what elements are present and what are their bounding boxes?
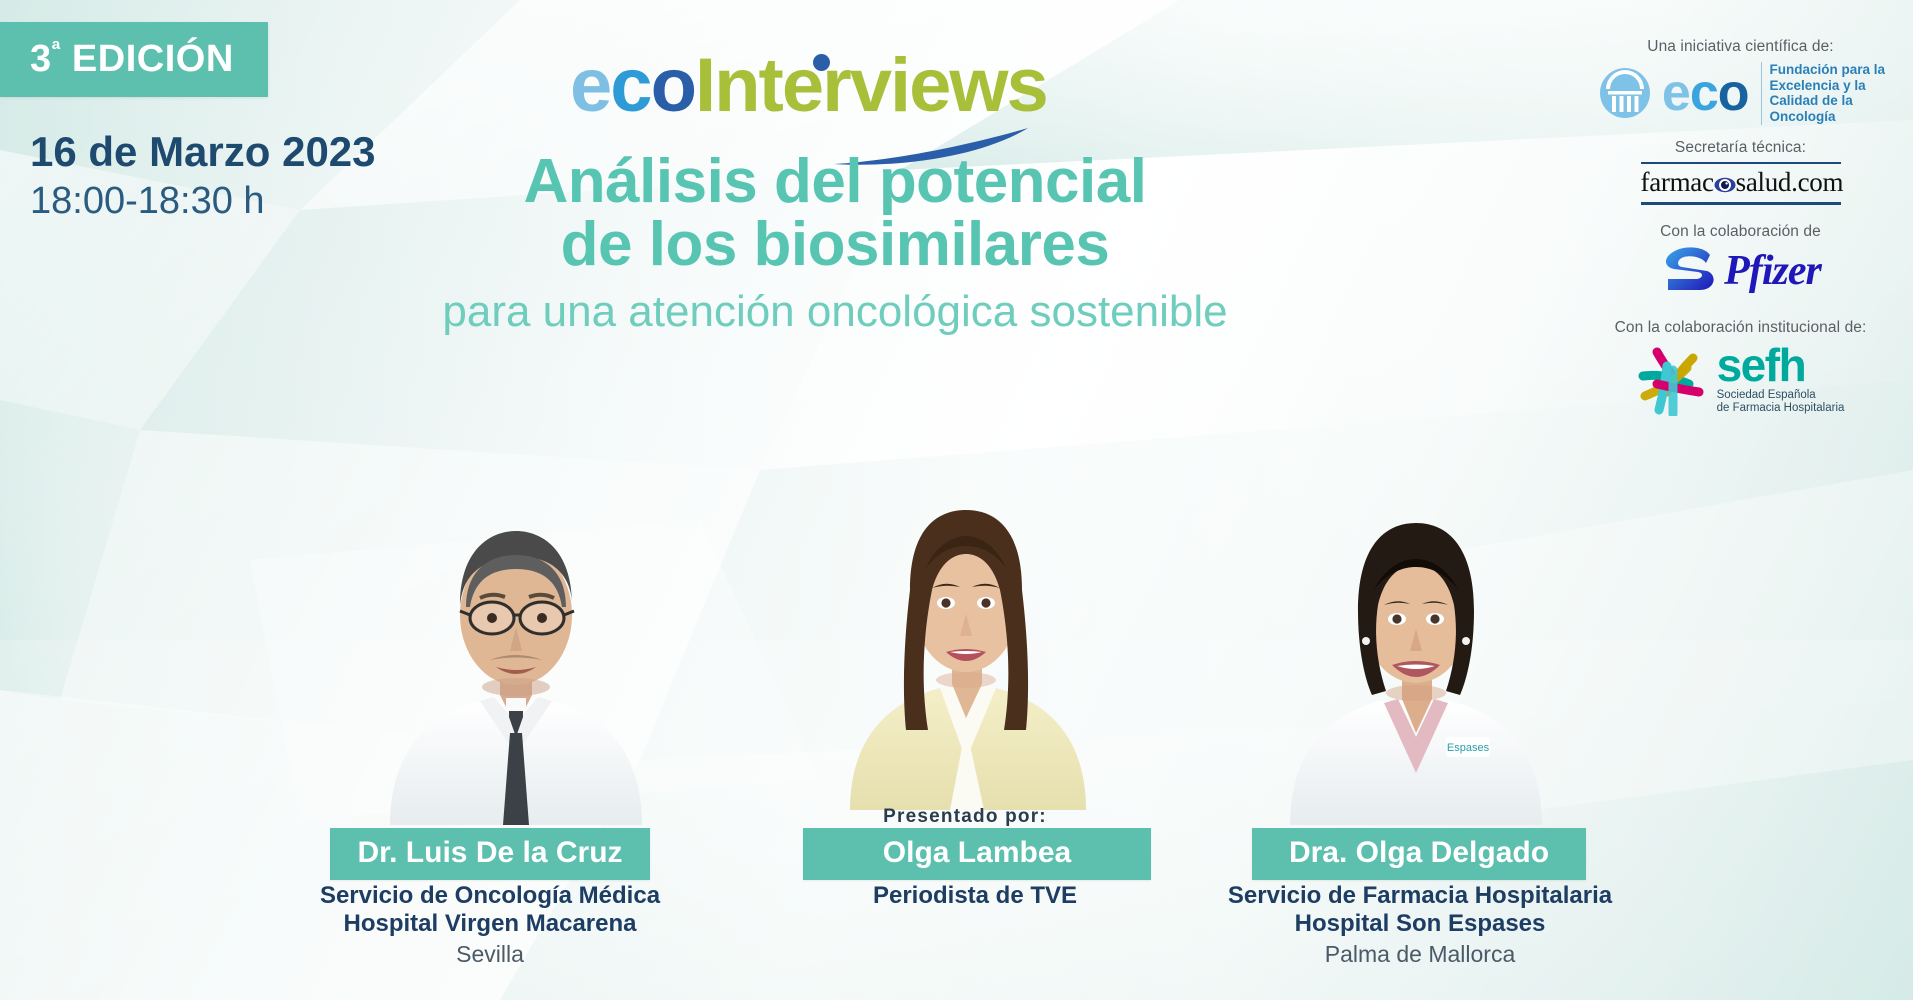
logo-dot-icon xyxy=(813,54,830,71)
speaker-credentials-1: Periodista de TVE xyxy=(790,882,1160,910)
eco-tagline-line-1: Fundación para la xyxy=(1770,62,1886,78)
farmacosalud-logo: farmacsalud.com xyxy=(1641,162,1841,205)
event-time: 18:00-18:30 h xyxy=(30,180,265,223)
sponsor-initiative: Una iniciativa científica de: eco Fundac… xyxy=(1568,38,1913,125)
speaker-name-bar-0: Dr. Luis De la Cruz xyxy=(330,828,650,880)
headline-subtitle: para una atención oncológica sostenible xyxy=(330,284,1340,339)
farmacosalud-wordmark: farmacsalud.com xyxy=(1641,164,1841,202)
speaker-role-line-0b: Hospital Virgen Macarena xyxy=(250,910,730,938)
speaker-role-line-2b: Hospital Son Espases xyxy=(1175,910,1665,938)
speaker-name-2: Dra. Olga Delgado xyxy=(1289,836,1549,869)
sefh-subtitle: Sociedad Española de Farmacia Hospitalar… xyxy=(1717,389,1845,416)
farmacosalud-text-after: salud.com xyxy=(1736,167,1844,197)
speaker-credentials-0: Servicio de Oncología Médica Hospital Vi… xyxy=(250,882,730,968)
sefh-subtitle-line-1: Sociedad Española xyxy=(1717,389,1845,403)
speaker-role-line-0a: Servicio de Oncología Médica xyxy=(250,882,730,910)
edition-badge-label: 3ª EDICIÓN xyxy=(30,38,234,80)
speaker-credentials-2: Servicio de Farmacia Hospitalaria Hospit… xyxy=(1175,882,1665,968)
speaker-photo-1 xyxy=(800,440,1130,810)
speaker-role-line-2a: Servicio de Farmacia Hospitalaria xyxy=(1175,882,1665,910)
logo-word-interviews: Interviews xyxy=(695,43,1047,128)
eco-tagline-line-3: Calidad de la xyxy=(1770,93,1886,109)
logo-letter-e: e xyxy=(570,43,610,128)
edition-badge: 3ª EDICIÓN xyxy=(0,22,268,97)
pfizer-wordmark: Pfizer xyxy=(1724,250,1821,292)
speaker-photo-0 xyxy=(350,455,680,825)
sponsor-institutional: Con la colaboración institucional de: se… xyxy=(1568,319,1913,416)
eco-emblem-icon xyxy=(1596,67,1654,119)
farmacosalud-bottom-rule xyxy=(1641,202,1841,205)
speaker-name-0: Dr. Luis De la Cruz xyxy=(357,836,622,869)
headline-line-2: de los biosimilares xyxy=(330,213,1340,276)
ecointerviews-logo-text: ecoInterviews xyxy=(570,48,1010,124)
sponsor-initiative-caption: Una iniciativa científica de: xyxy=(1568,38,1913,57)
webinar-promo-banner: 3ª EDICIÓN 16 de Marzo 2023 18:00-18:30 … xyxy=(0,0,1913,1000)
eco-tagline-line-2: Excelencia y la xyxy=(1770,78,1886,94)
presented-by-label: Presentado por: xyxy=(800,806,1130,828)
pfizer-helix-icon xyxy=(1660,245,1720,297)
sponsor-institutional-caption: Con la colaboración institucional de: xyxy=(1568,319,1913,338)
sponsor-secretariat: Secretaría técnica: farmacsalud.com xyxy=(1568,139,1913,205)
sefh-subtitle-line-2: de Farmacia Hospitalaria xyxy=(1717,402,1845,416)
speaker-city-2: Palma de Mallorca xyxy=(1175,941,1665,968)
logo-letter-c: c xyxy=(610,43,650,128)
svg-text:Espases: Espases xyxy=(1447,742,1490,754)
ecointerviews-logo: ecoInterviews xyxy=(570,48,1010,148)
sponsor-rail: Una iniciativa científica de: eco Fundac… xyxy=(1568,0,1913,620)
sponsor-secretariat-caption: Secretaría técnica: xyxy=(1568,139,1913,158)
sponsor-collaboration: Con la colaboración de Pfizer xyxy=(1568,223,1913,298)
speaker-photo-2: Espases xyxy=(1250,455,1580,825)
eco-tagline: Fundación para la Excelencia y la Calida… xyxy=(1761,62,1886,126)
speaker-name-bar-1: Olga Lambea xyxy=(803,828,1151,880)
event-date: 16 de Marzo 2023 xyxy=(30,128,376,176)
speaker-role-line-1a: Periodista de TVE xyxy=(790,882,1160,910)
sefh-wordmark: sefh xyxy=(1717,344,1845,386)
sponsor-collaboration-caption: Con la colaboración de xyxy=(1568,223,1913,242)
speaker-name-bar-2: Dra. Olga Delgado xyxy=(1252,828,1586,880)
eco-letter-e: e xyxy=(1662,64,1690,122)
eye-icon xyxy=(1714,169,1736,185)
eco-letter-o: o xyxy=(1718,64,1749,122)
speaker-name-1: Olga Lambea xyxy=(883,836,1071,869)
farmacosalud-text-before: farmac xyxy=(1641,167,1714,197)
headline-block: Análisis del potencial de los biosimilar… xyxy=(330,150,1340,339)
eco-wordmark: eco xyxy=(1662,67,1749,119)
logo-letter-o: o xyxy=(651,43,695,128)
eco-tagline-line-4: Oncología xyxy=(1770,109,1886,125)
speaker-city-0: Sevilla xyxy=(250,941,730,968)
sefh-star-icon xyxy=(1637,344,1711,416)
eco-letter-c: c xyxy=(1690,64,1718,122)
headline-line-1: Análisis del potencial xyxy=(330,150,1340,213)
